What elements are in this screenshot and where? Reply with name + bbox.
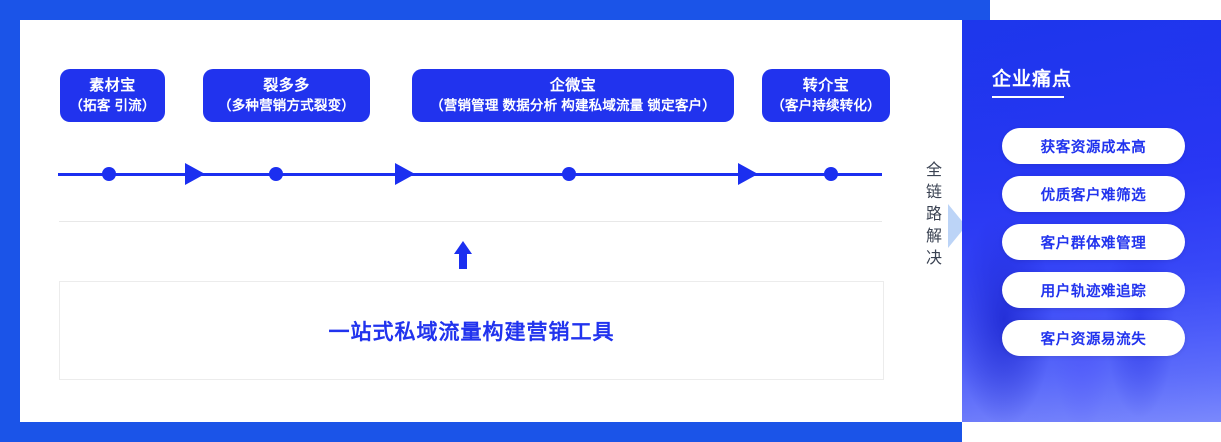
- vertical-label: 全 链 路 解 决: [921, 160, 947, 270]
- product-name: 裂多多: [263, 76, 310, 96]
- timeline-dot-1: [269, 167, 283, 181]
- panel-title: 企业痛点: [992, 64, 1072, 91]
- timeline-dot-3: [824, 167, 838, 181]
- vertical-label-char-3: 解: [921, 226, 947, 248]
- slide-canvas: 素材宝 （拓客 引流） 裂多多 （多种营销方式裂变） 企微宝 （营销管理 数据分…: [0, 0, 1221, 442]
- product-desc: （营销管理 数据分析 构建私域流量 锁定客户）: [430, 97, 716, 115]
- timeline-dot-2: [562, 167, 576, 181]
- product-button-3[interactable]: 转介宝 （客户持续转化）: [762, 69, 890, 122]
- summary-box: 一站式私域流量构建营销工具: [59, 281, 884, 380]
- vertical-label-char-2: 路: [921, 204, 947, 226]
- up-arrow-icon: [454, 241, 472, 269]
- timeline-line: [58, 173, 882, 176]
- pain-point-item-2[interactable]: 客户群体难管理: [1002, 224, 1185, 260]
- pain-point-item-3[interactable]: 用户轨迹难追踪: [1002, 272, 1185, 308]
- main-card: 素材宝 （拓客 引流） 裂多多 （多种营销方式裂变） 企微宝 （营销管理 数据分…: [20, 20, 962, 422]
- section-divider: [59, 221, 882, 222]
- product-desc: （多种营销方式裂变）: [218, 97, 355, 115]
- panel-content: 企业痛点 获客资源成本高 优质客户难筛选 客户群体难管理 用户轨迹难追踪 客户资…: [962, 20, 1221, 422]
- product-button-0[interactable]: 素材宝 （拓客 引流）: [60, 69, 165, 122]
- timeline-arrow-0-icon: [185, 163, 205, 185]
- pain-point-item-1[interactable]: 优质客户难筛选: [1002, 176, 1185, 212]
- frame-left-bar: [0, 0, 20, 422]
- vertical-label-char-0: 全: [921, 160, 947, 182]
- product-desc: （拓客 引流）: [69, 97, 155, 115]
- timeline-dot-0: [102, 167, 116, 181]
- product-desc: （客户持续转化）: [771, 97, 881, 115]
- pain-point-item-4[interactable]: 客户资源易流失: [1002, 320, 1185, 356]
- vertical-label-char-1: 链: [921, 182, 947, 204]
- panel-title-underline: [992, 96, 1064, 98]
- vertical-label-char-4: 决: [921, 248, 947, 270]
- frame-top-bar: [0, 0, 990, 20]
- product-name: 企微宝: [550, 76, 597, 96]
- timeline-arrow-1-icon: [395, 163, 415, 185]
- product-name: 转介宝: [803, 76, 850, 96]
- product-button-2[interactable]: 企微宝 （营销管理 数据分析 构建私域流量 锁定客户）: [412, 69, 734, 122]
- product-button-1[interactable]: 裂多多 （多种营销方式裂变）: [203, 69, 370, 122]
- timeline-arrow-2-icon: [738, 163, 758, 185]
- pain-points-panel: 企业痛点 获客资源成本高 优质客户难筛选 客户群体难管理 用户轨迹难追踪 客户资…: [962, 20, 1221, 422]
- frame-bottom-bar: [0, 422, 962, 442]
- summary-text: 一站式私域流量构建营销工具: [329, 316, 615, 346]
- pain-point-item-0[interactable]: 获客资源成本高: [1002, 128, 1185, 164]
- product-name: 素材宝: [89, 76, 136, 96]
